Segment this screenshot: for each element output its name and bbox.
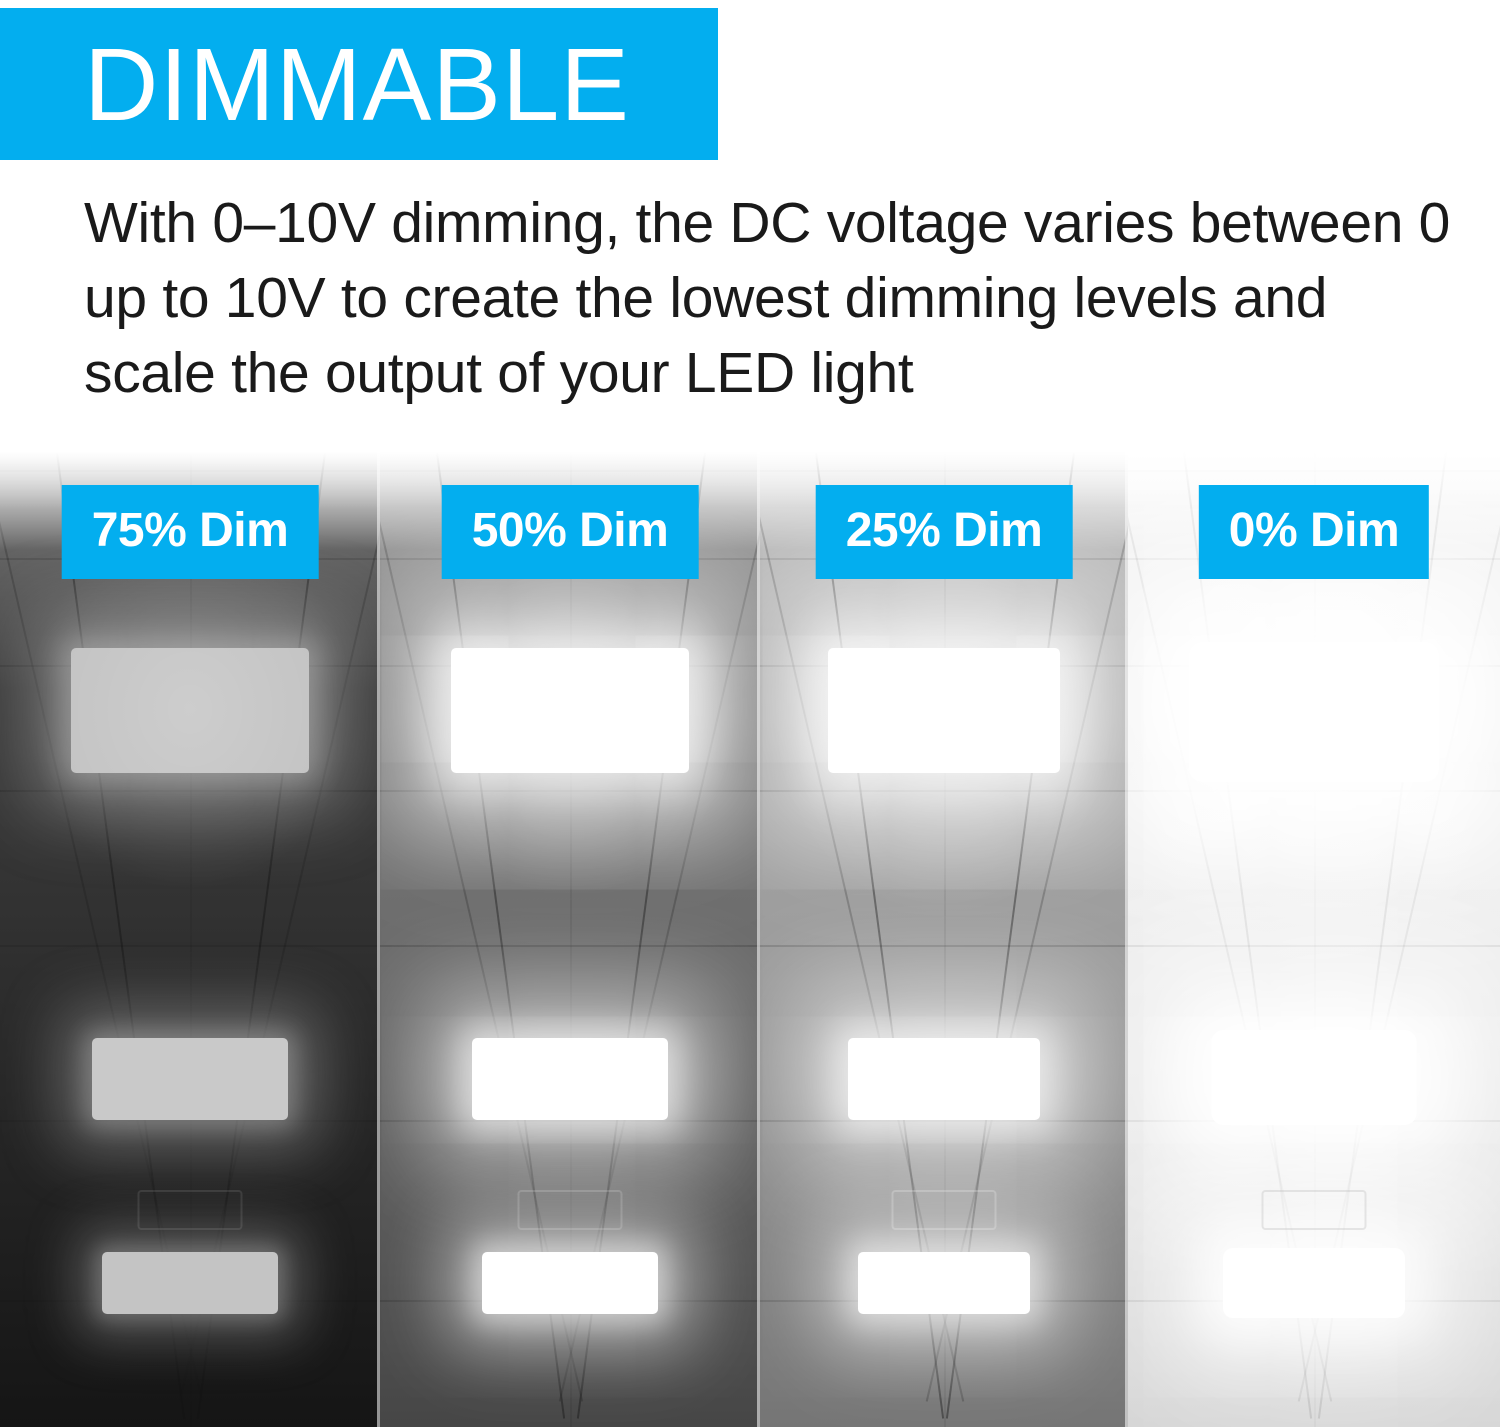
fixture-housing-detail xyxy=(892,1190,997,1230)
led-troffer-fixture xyxy=(92,1038,288,1120)
dim-badge-75: 75% Dim xyxy=(62,485,319,579)
panel-divider xyxy=(1125,430,1128,1427)
dimming-comparison-strip: 75% Dim xyxy=(0,430,1500,1427)
fixture-housing-detail xyxy=(518,1190,623,1230)
ceiling-seam-horizontal xyxy=(760,945,1128,947)
panel-divider xyxy=(757,430,760,1427)
ceiling-seam-horizontal xyxy=(0,790,380,792)
panel-divider xyxy=(377,430,380,1427)
led-troffer-fixture xyxy=(472,1038,668,1120)
ceiling-seam-horizontal xyxy=(380,470,760,472)
led-troffer-fixture xyxy=(451,648,689,773)
ceiling-seam-horizontal xyxy=(1128,470,1500,472)
ceiling-seam-horizontal xyxy=(1128,790,1500,792)
led-troffer-fixture xyxy=(482,1252,658,1314)
ceiling-seam-horizontal xyxy=(760,470,1128,472)
header-section: DIMMABLE With 0–10V dimming, the DC volt… xyxy=(0,0,1500,430)
led-troffer-fixture xyxy=(1189,642,1439,782)
dim-panel-75: 75% Dim xyxy=(0,430,380,1427)
ceiling-seam-horizontal xyxy=(760,790,1128,792)
led-troffer-fixture xyxy=(828,648,1060,773)
dim-badge-0: 0% Dim xyxy=(1199,485,1429,579)
dim-badge-50: 50% Dim xyxy=(442,485,699,579)
dim-panel-25: 25% Dim xyxy=(760,430,1128,1427)
subtitle-description: With 0–10V dimming, the DC voltage varie… xyxy=(84,186,1464,412)
ceiling-seam-horizontal xyxy=(0,470,380,472)
dim-panel-0: 0% Dim xyxy=(1128,430,1500,1427)
page-title: DIMMABLE xyxy=(0,33,630,136)
fixture-housing-detail xyxy=(138,1190,243,1230)
led-troffer-fixture xyxy=(1223,1248,1405,1318)
ceiling-scene-50 xyxy=(380,430,760,1427)
led-troffer-fixture xyxy=(71,648,309,773)
ceiling-scene-25 xyxy=(760,430,1128,1427)
ceiling-seam-horizontal xyxy=(380,790,760,792)
ceiling-seam-horizontal xyxy=(0,1120,380,1122)
ceiling-scene-0 xyxy=(1128,430,1500,1427)
ceiling-seam-horizontal xyxy=(380,1120,760,1122)
led-troffer-fixture xyxy=(848,1038,1040,1120)
infographic-page: DIMMABLE With 0–10V dimming, the DC volt… xyxy=(0,0,1500,1427)
fixture-housing-detail xyxy=(1262,1190,1367,1230)
ceiling-seam-horizontal xyxy=(0,945,380,947)
title-banner: DIMMABLE xyxy=(0,8,718,160)
led-troffer-fixture xyxy=(1212,1030,1417,1125)
led-troffer-fixture xyxy=(858,1252,1030,1314)
dim-badge-25: 25% Dim xyxy=(816,485,1073,579)
ceiling-seam-horizontal xyxy=(380,945,760,947)
ceiling-seam-horizontal xyxy=(1128,945,1500,947)
ceiling-seam-horizontal xyxy=(760,1120,1128,1122)
led-troffer-fixture xyxy=(102,1252,278,1314)
dim-panel-50: 50% Dim xyxy=(380,430,760,1427)
ceiling-scene-75 xyxy=(0,430,380,1427)
